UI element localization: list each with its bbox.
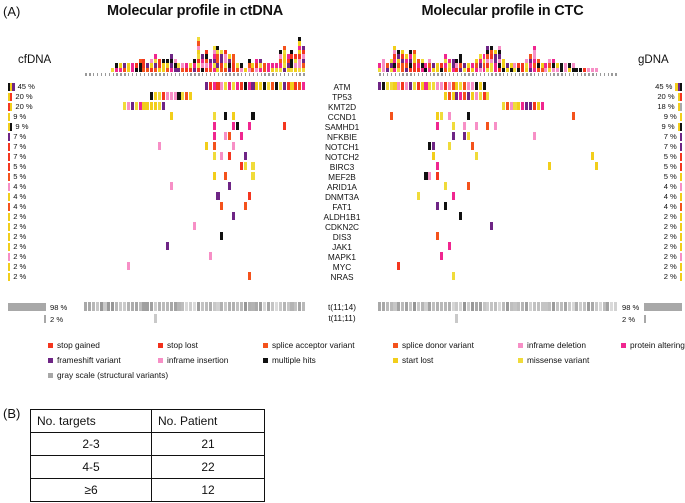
oncoprint-cell [397, 82, 400, 90]
sample-tick [264, 73, 265, 76]
oncoprint-cell [572, 112, 575, 120]
sample-tick [406, 73, 407, 76]
sv-cell-t1114 [154, 302, 157, 311]
percent-swatch [680, 133, 682, 141]
sample-tick [245, 73, 246, 76]
sv-cell-t1114 [397, 302, 400, 311]
bar-segment-stack [533, 46, 536, 72]
percent-value: 7 % [664, 132, 677, 142]
oncoprint-cell [475, 92, 478, 100]
oncoprint-cell [533, 102, 536, 110]
sv-name-label: t(11;14) [306, 302, 378, 313]
percent-swatch [8, 93, 12, 101]
oncoprint-cell [248, 272, 251, 280]
sv-cell-t1114 [294, 302, 297, 311]
oncoprint-cell [205, 82, 208, 90]
oncoprint-cell [213, 142, 216, 150]
percent-row: 2 % [622, 262, 682, 272]
bar-segment-stack [517, 63, 520, 72]
oncoprint-cell [475, 122, 478, 130]
gene-label-fat1: FAT1 [306, 202, 378, 212]
bar-segment-stack [513, 63, 516, 72]
bar-segment-stack [455, 59, 458, 72]
oncoprint-cell [251, 82, 254, 90]
sample-tick [116, 73, 117, 76]
legend-label: frameshift variant [57, 355, 121, 365]
legend-swatch [518, 343, 523, 348]
legend-swatch [518, 358, 523, 363]
bar-segment-stack [421, 59, 424, 72]
sv-cell-t1114 [455, 302, 458, 311]
oncoprint-cell [251, 172, 254, 180]
percent-value: 5 % [13, 162, 26, 172]
bar-segment-stack [162, 59, 165, 72]
legend-item-stop-lost: stop lost [158, 340, 198, 350]
oncoprint-cell [463, 92, 466, 100]
percent-swatch [8, 173, 10, 181]
legend-label: stop lost [167, 340, 198, 350]
percent-row: 2 % [622, 252, 682, 262]
bar-segment-stack [393, 46, 396, 72]
sample-tick [600, 73, 601, 76]
bar-segment-stack [548, 59, 551, 72]
percent-swatch [680, 263, 682, 271]
sv-cell-t1114 [92, 302, 95, 311]
sample-tick [233, 73, 234, 76]
legend-item-inframe-deletion: inframe deletion [518, 340, 586, 350]
sample-tick [190, 73, 191, 76]
sample-tick [553, 73, 554, 76]
percent-row: 4 % [622, 182, 682, 192]
oncoprint-cell [436, 202, 439, 210]
bar-segment-stack [552, 59, 555, 72]
bar-segment-stack [135, 63, 138, 72]
oncoprint-cell [382, 82, 385, 90]
oncoprint-cell [494, 122, 497, 130]
sv-percent-left-row1: 98 % [8, 303, 70, 312]
oncoprint-cell [405, 82, 408, 90]
sample-tick [445, 73, 446, 76]
oncoprint-cell [421, 82, 424, 90]
sample-tick [511, 73, 512, 76]
percent-row: 20 % [8, 92, 68, 102]
sv-cell-t1114 [135, 302, 138, 311]
bar-segment-stack [174, 59, 177, 72]
percent-column-left: 45 %20 %20 %9 %9 %7 %7 %7 %5 %5 %4 %4 %4… [8, 82, 68, 282]
sample-tick [604, 73, 605, 76]
oncoprint-cell [444, 202, 447, 210]
sv-cell-t1114 [498, 302, 501, 311]
oncoprint-cell [220, 152, 223, 160]
bar-segment-stack [127, 63, 130, 72]
table-cell-targets: ≥6 [31, 479, 152, 502]
sample-tick [296, 73, 297, 76]
gene-label-nras: NRAS [306, 272, 378, 282]
percent-value: 2 % [664, 272, 677, 282]
sv-matrix-ctdna [84, 302, 306, 324]
oncoprint-cell [275, 82, 278, 90]
oncoprint-cell [236, 122, 239, 130]
sample-tick [237, 73, 238, 76]
sv-cell-t1114 [595, 302, 598, 311]
sv-cell-t1114 [560, 302, 563, 311]
sample-tick-row-ctdna [84, 72, 306, 76]
bar-segment-stack [424, 63, 427, 72]
sample-tick [611, 73, 612, 76]
percent-swatch [8, 273, 10, 281]
oncoprint-cell [279, 82, 282, 90]
sample-tick [292, 73, 293, 76]
sample-tick [155, 73, 156, 76]
oncoprint-cell [486, 122, 489, 130]
sv-cell-t1114 [115, 302, 118, 311]
bar-segment-stack [390, 59, 393, 72]
oncoprint-cell [459, 212, 462, 220]
oncoprint-cell [236, 82, 239, 90]
sv-cell-t1114 [579, 302, 582, 311]
oncoprint-cell [463, 122, 466, 130]
bar-segment-stack [177, 63, 180, 72]
percent-row: 4 % [8, 192, 68, 202]
bar-segment-stack [251, 63, 254, 72]
sample-tick [85, 73, 86, 76]
oncoprint-cell [150, 92, 153, 100]
oncoprint-cell [294, 82, 297, 90]
variant-burden-barchart-ctc [378, 28, 618, 72]
sample-tick [249, 73, 250, 76]
sample-tick [546, 73, 547, 76]
sv-cell-t1114 [100, 302, 103, 311]
bar-segment-stack [224, 50, 227, 72]
sample-tick [140, 73, 141, 76]
sample-tick [391, 73, 392, 76]
sample-tick [449, 73, 450, 76]
percent-value: 18 % [657, 102, 674, 112]
oncoprint-cell [220, 202, 223, 210]
percent-row: 2 % [8, 262, 68, 272]
sample-tick [241, 73, 242, 76]
bar-segment-stack [189, 63, 192, 72]
percent-row: 5 % [8, 162, 68, 172]
table-row: 2-3 21 [31, 433, 265, 456]
bar-segment-stack [193, 59, 196, 72]
sample-tick [253, 73, 254, 76]
sample-tick [526, 73, 527, 76]
sv-cell-t1114 [409, 302, 412, 311]
oncoprint-cell [393, 82, 396, 90]
bar-segment-stack [255, 59, 258, 72]
oncoprint-cell [259, 82, 262, 90]
table-cell-targets: 4-5 [31, 456, 152, 479]
sv-percent-value: 2 % [622, 315, 635, 324]
sv-cell-t1114 [587, 302, 590, 311]
oncoprint-cell [170, 92, 173, 100]
oncoprint-cell [529, 102, 532, 110]
oncoprint-cell [502, 102, 505, 110]
legend-item-frameshift-variant: frameshift variant [48, 355, 121, 365]
bar-segment-stack [197, 37, 200, 72]
sample-tick [222, 73, 223, 76]
table-no-targets-vs-patients: No. targets No. Patient 2-3 21 4-5 22 ≥6… [30, 409, 265, 502]
sample-tick [503, 73, 504, 76]
bar-segment-stack [413, 50, 416, 72]
percent-row: 2 % [8, 232, 68, 242]
sv-cell-t1114 [475, 302, 478, 311]
bar-segment-stack [564, 63, 567, 72]
oncoprint-cell [452, 192, 455, 200]
sv-cell-t1114 [614, 302, 617, 311]
sv-cell-t1114 [490, 302, 493, 311]
sample-tick [120, 73, 121, 76]
sv-cell-t1114 [513, 302, 516, 311]
sample-tick [109, 73, 110, 76]
sv-cell-t1114 [606, 302, 609, 311]
oncoprint-cell [162, 102, 165, 110]
sv-percent-value: 98 % [622, 303, 639, 312]
sv-cell-t1114 [244, 302, 247, 311]
table-header-row: No. targets No. Patient [31, 410, 265, 433]
legend-row: stop gainedstop lostsplice acceptor vari… [48, 340, 678, 355]
oncoprint-cell [436, 122, 439, 130]
oncoprint-cell [213, 152, 216, 160]
sample-tick [468, 73, 469, 76]
legend-item-inframe-insertion: inframe insertion [158, 355, 228, 365]
percent-swatch [680, 253, 682, 261]
bar-segment-stack [494, 50, 497, 72]
sample-tick [472, 73, 473, 76]
bar-segment-stack [537, 59, 540, 72]
oncoprint-cell [436, 172, 439, 180]
oncoprint-cell [517, 102, 520, 110]
oncoprint-cell [228, 132, 231, 140]
oncoprint-cell [444, 82, 447, 90]
oncoprint-cell [228, 82, 231, 90]
sv-cell-t1114 [174, 302, 177, 311]
oncoprint-cell [378, 82, 381, 90]
table-cell-patients: 22 [152, 456, 265, 479]
sample-tick [163, 73, 164, 76]
legend-label: inframe insertion [167, 355, 228, 365]
bar-segment-stack [271, 63, 274, 72]
sample-tick [148, 73, 149, 76]
bar-segment-stack [560, 63, 563, 72]
sv-cell-t1114 [467, 302, 470, 311]
legend-swatch [158, 358, 163, 363]
bar-segment-stack [397, 50, 400, 72]
oncoprint-cell [232, 212, 235, 220]
sv-cell-t1114 [529, 302, 532, 311]
percent-value: 20 % [15, 102, 32, 112]
gene-label-aldh1b1: ALDH1B1 [306, 212, 378, 222]
sv-cell-t1114 [494, 302, 497, 311]
oncoprint-cell [452, 92, 455, 100]
sv-cell-t1114 [393, 302, 396, 311]
sv-cell-t1114 [537, 302, 540, 311]
sv-cell-t1114 [119, 302, 122, 311]
sv-cell-t1114 [521, 302, 524, 311]
oncoprint-cell [463, 82, 466, 90]
percent-swatch [680, 213, 682, 221]
percent-value: 4 % [664, 182, 677, 192]
variant-class-legend: stop gainedstop lostsplice acceptor vari… [48, 340, 678, 385]
oncoprint-cell [240, 82, 243, 90]
gene-label-arid1a: ARID1A [306, 182, 378, 192]
sample-tick [202, 73, 203, 76]
percent-swatch [8, 243, 10, 251]
bar-segment-stack [248, 59, 251, 72]
bar-segment-stack [205, 50, 208, 72]
variant-burden-barchart-ctdna [84, 28, 306, 72]
oncoprint-cell [205, 142, 208, 150]
oncoprint-cell [248, 82, 251, 90]
oncoprint-cell [287, 82, 290, 90]
oncoprint-cell [177, 92, 180, 100]
bar-segment-stack [201, 54, 204, 72]
percent-value: 7 % [13, 152, 26, 162]
percent-row: 7 % [8, 152, 68, 162]
oncoprint-cell [436, 82, 439, 90]
oncoprint-cell [224, 172, 227, 180]
bar-segment-stack [544, 63, 547, 72]
oncoprint-cell [471, 92, 474, 100]
oncoprint-cell [139, 102, 142, 110]
oncoprint-cell [220, 82, 223, 90]
sample-tick [159, 73, 160, 76]
percent-row: 2 % [8, 242, 68, 252]
legend-swatch [48, 358, 53, 363]
sample-tick [588, 73, 589, 76]
percent-swatch [8, 263, 10, 271]
percent-value: 45 % [18, 82, 35, 92]
oncoprint-cell [224, 132, 227, 140]
oncoprint-cell [459, 92, 462, 100]
sv-cell-t1114 [213, 302, 216, 311]
percent-row: 4 % [622, 202, 682, 212]
sample-tick-row-ctc [378, 72, 618, 76]
sv-gray-bar [644, 315, 646, 323]
oncoprint-cell [533, 132, 536, 140]
sample-tick [561, 73, 562, 76]
oncoprint-cell [448, 242, 451, 250]
percent-swatch [8, 183, 10, 191]
bar-segment-stack [142, 59, 145, 72]
oncoprint-cell [255, 82, 258, 90]
oncoprint-cell [595, 162, 598, 170]
legend-item-splice-acceptor-variant: splice acceptor variant [263, 340, 355, 350]
gene-label-dis3: DIS3 [306, 232, 378, 242]
sv-cell-t1114 [185, 302, 188, 311]
oncoprint-cell [135, 102, 138, 110]
gene-label-mapk1: MAPK1 [306, 252, 378, 262]
sv-cell-t1114 [413, 302, 416, 311]
oncoprint-cell [248, 122, 251, 130]
percent-row: 2 % [622, 272, 682, 282]
bar-segment-stack [166, 59, 169, 72]
sv-cell-t1114 [240, 302, 243, 311]
sample-tick [379, 73, 380, 76]
sv-cell-t1114 [177, 302, 180, 311]
oncoprint-cell [170, 112, 173, 120]
percent-swatch [680, 193, 682, 201]
sample-tick [229, 73, 230, 76]
bar-segment-stack [486, 46, 489, 72]
gene-label-mef2b: MEF2B [306, 172, 378, 182]
percent-row: 2 % [622, 222, 682, 232]
sample-tick [538, 73, 539, 76]
percent-row: 5 % [622, 162, 682, 172]
sv-cell-t1114 [541, 302, 544, 311]
percent-swatch [680, 143, 682, 151]
sv-cell-t1114 [88, 302, 91, 311]
sv-cell-t1114 [224, 302, 227, 311]
sv-name-column: t(11;14) t(11;11) [306, 302, 378, 324]
oncoprint-cell [228, 182, 231, 190]
sv-cell-t1114 [591, 302, 594, 311]
table-cell-patients: 12 [152, 479, 265, 502]
sv-cell-t1114 [209, 302, 212, 311]
bar-segment-stack [123, 63, 126, 72]
bar-segment-stack [452, 59, 455, 72]
percent-swatch [680, 113, 682, 121]
oncoprint-cell [244, 202, 247, 210]
sample-tick [464, 73, 465, 76]
percent-value: 2 % [13, 252, 26, 262]
percent-row: 5 % [8, 172, 68, 182]
gene-label-cdkn2c: CDKN2C [306, 222, 378, 232]
bar-segment-stack [378, 63, 381, 72]
bar-segment-stack [479, 54, 482, 72]
percent-value: 5 % [664, 162, 677, 172]
bar-segment-stack [220, 50, 223, 72]
bar-segment-stack [436, 63, 439, 72]
legend-swatch [48, 373, 53, 378]
oncoprint-cell [248, 192, 251, 200]
percent-swatch [8, 253, 10, 261]
sample-tick [480, 73, 481, 76]
oncoprint-cell [459, 82, 462, 90]
oncoprint-cell [267, 82, 270, 90]
legend-swatch [393, 343, 398, 348]
percent-value: 2 % [664, 252, 677, 262]
bar-segment-stack [119, 63, 122, 72]
sv-cell-t1114 [271, 302, 274, 311]
panel-title-ctc: Molecular profile in CTC [385, 3, 620, 19]
legend-item-start-lost: start lost [393, 355, 433, 365]
percent-value: 20 % [657, 92, 674, 102]
percent-row: 7 % [622, 132, 682, 142]
sv-cell-t1114 [463, 302, 466, 311]
bar-segment-stack [440, 63, 443, 72]
sample-tick [299, 73, 300, 76]
sample-tick [441, 73, 442, 76]
legend-label: protein altering variant [630, 340, 685, 350]
percent-row: 9 % [622, 112, 682, 122]
percent-value: 2 % [664, 232, 677, 242]
sv-cell-t1114 [448, 302, 451, 311]
percent-value: 9 % [664, 112, 677, 122]
sample-tick [399, 73, 400, 76]
percent-value: 2 % [13, 232, 26, 242]
percent-swatch [680, 203, 682, 211]
percent-row: 4 % [8, 202, 68, 212]
sv-cell-t1114 [428, 302, 431, 311]
percent-value: 4 % [664, 192, 677, 202]
sv-percent-right-row2: 2 % [622, 315, 682, 324]
oncoprint-cell [213, 172, 216, 180]
sample-tick [410, 73, 411, 76]
bar-segment-stack [279, 50, 282, 72]
sample-tick [461, 73, 462, 76]
